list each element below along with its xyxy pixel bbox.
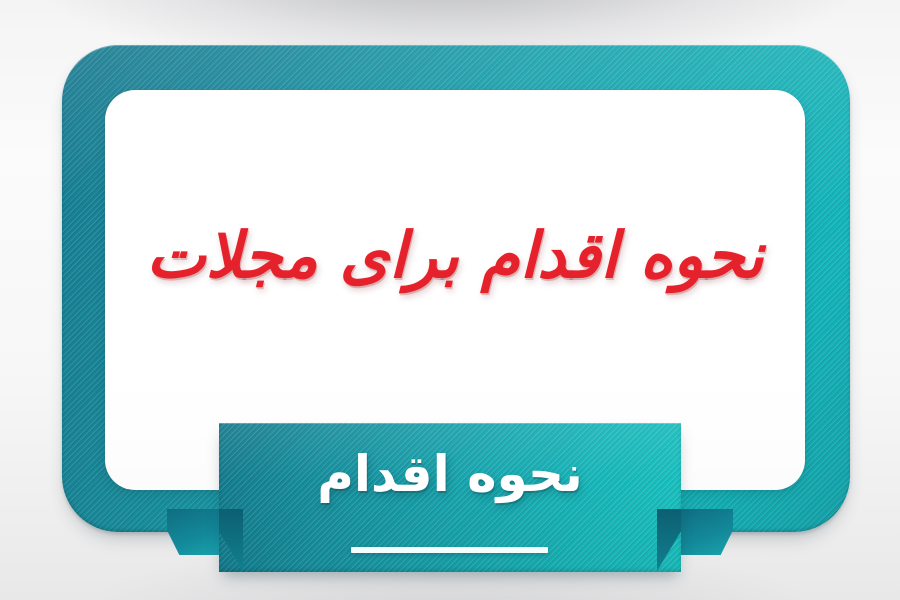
ribbon-tail-right [677,509,733,555]
ribbon-banner: نحوه اقدام [219,423,681,572]
poster-stage: نحوه اقدام برای مجلات نحوه اقدام [0,0,900,600]
ribbon-underline [351,547,548,553]
ribbon-tail-left [167,509,223,555]
